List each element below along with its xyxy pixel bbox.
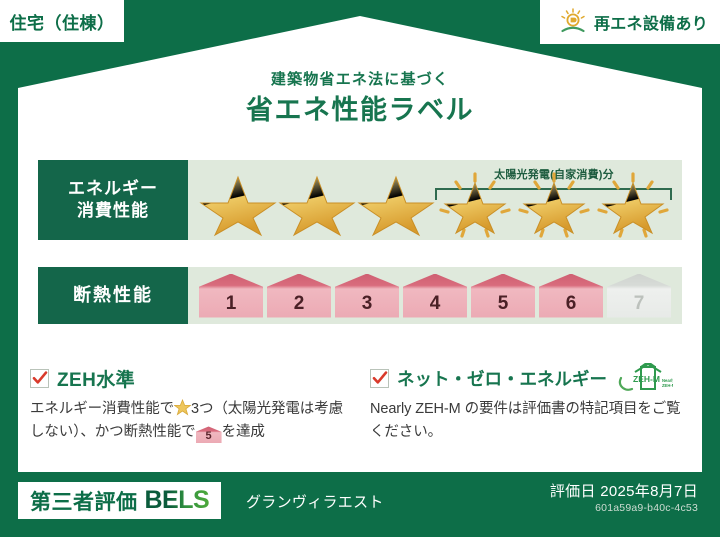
insulation-label: 断熱性能 xyxy=(73,284,153,308)
feature-zeh-standard: ZEH水準 エネルギー消費性能で3つ（太陽光発電は考慮しない）、かつ断熱性能で5… xyxy=(30,365,352,445)
insulation-performance-row: 断熱性能 1 2 3 4 5 6 7 xyxy=(38,267,682,324)
energy-stars-area: 太陽光発電(自家消費)分 xyxy=(188,160,682,240)
evaluation-date: 評価日 2025年8月7日 xyxy=(550,480,698,501)
star-solar-icon xyxy=(436,172,514,238)
label-footer: 第三者評価 BELS グランヴィラエスト 評価日 2025年8月7日 601a5… xyxy=(0,472,720,537)
star-icon xyxy=(278,172,356,238)
feature-description: エネルギー消費性能で3つ（太陽光発電は考慮しない）、かつ断熱性能で5を達成 xyxy=(30,398,352,445)
star-icon xyxy=(199,172,277,238)
building-name: グランヴィラエスト xyxy=(246,491,384,512)
svg-text:ZEH-M: ZEH-M xyxy=(633,374,660,384)
building-type-badge: 住宅（住棟） xyxy=(0,0,124,42)
label-title: 省エネ性能ラベル xyxy=(0,88,720,127)
grade-badge: 3 xyxy=(335,274,399,318)
inline-grade-badge: 5 xyxy=(196,426,222,443)
feature-net-zero-energy: ネット・ゼロ・エネルギー ZEH-M Nearly ZEH-M Nearly Z… xyxy=(370,365,692,445)
star-solar-icon xyxy=(594,172,672,238)
energy-performance-label-cell: エネルギー 消費性能 xyxy=(38,160,188,240)
feature-header: ZEH水準 xyxy=(30,365,352,391)
insulation-grades-area: 1 2 3 4 5 6 7 xyxy=(188,267,682,324)
renewable-energy-badge: 再エネ設備あり xyxy=(540,0,720,44)
energy-label-line2: 消費性能 xyxy=(77,200,149,222)
energy-label-line1: エネルギー xyxy=(68,178,158,200)
feature-title: ネット・ゼロ・エネルギー xyxy=(397,366,607,391)
grade-badge-inactive: 7 xyxy=(607,274,671,318)
svg-text:ZEH-M: ZEH-M xyxy=(662,383,673,388)
insulation-label-cell: 断熱性能 xyxy=(38,267,188,324)
bels-logo-text: BELS xyxy=(145,486,210,515)
inline-star-icon xyxy=(174,399,191,416)
checkbox-checked xyxy=(370,369,389,388)
bels-certification-box: 第三者評価 BELS xyxy=(18,482,221,519)
grade-badge: 6 xyxy=(539,274,603,318)
renewable-energy-label: 再エネ設備あり xyxy=(594,10,708,34)
grade-badge: 4 xyxy=(403,274,467,318)
grade-badge: 2 xyxy=(267,274,331,318)
evaluation-id: 601a59a9-b40c-4c53 xyxy=(595,502,698,514)
desc-text-part1: エネルギー消費性能で xyxy=(30,401,174,417)
insulation-grade-scale: 1 2 3 4 5 6 7 xyxy=(199,274,671,318)
feature-header: ネット・ゼロ・エネルギー ZEH-M Nearly ZEH-M xyxy=(370,365,692,391)
checkbox-checked xyxy=(30,369,49,388)
feature-description: Nearly ZEH-M の要件は評価書の特記項目をご覧ください。 xyxy=(370,398,692,445)
energy-performance-row: エネルギー 消費性能 太陽光発電(自家消費)分 xyxy=(38,160,682,240)
feature-title: ZEH水準 xyxy=(57,365,135,392)
label-subtitle: 建築物省エネ法に基づく xyxy=(0,68,720,89)
energy-performance-label: 住宅（住棟） 再エネ設備あり 建築物省エネ法に基づく 省エネ性能ラベル xyxy=(0,0,720,537)
grade-badge: 1 xyxy=(199,274,263,318)
desc-text-part2: を達成 xyxy=(222,424,265,440)
zeh-m-house-logo: ZEH-M Nearly ZEH-M xyxy=(617,363,673,393)
star-rating xyxy=(199,172,672,238)
sun-solar-icon xyxy=(558,7,588,37)
grade-badge: 5 xyxy=(471,274,535,318)
third-party-eval-label: 第三者評価 xyxy=(30,486,138,516)
building-type-label: 住宅（住棟） xyxy=(10,9,115,34)
star-icon xyxy=(357,172,435,238)
star-solar-icon xyxy=(515,172,593,238)
